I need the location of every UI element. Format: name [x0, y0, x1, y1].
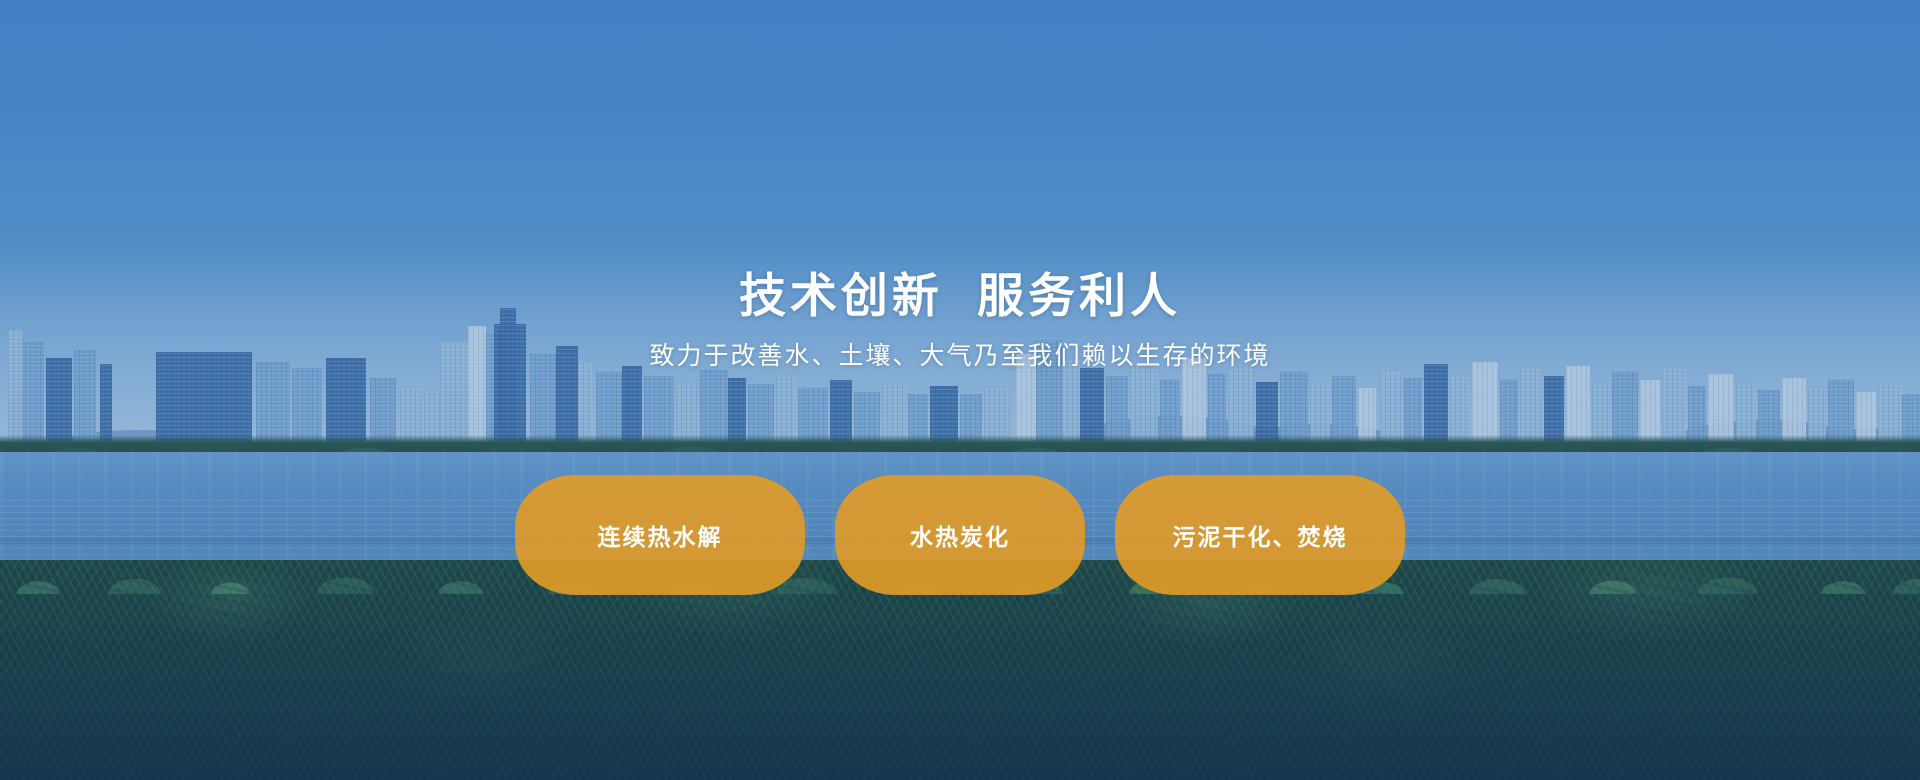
hero-banner: 技术创新 服务利人 致力于改善水、土壤、大气乃至我们赖以生存的环境 连续热水解 …	[0, 0, 1920, 780]
hero-subheadline: 致力于改善水、土壤、大气乃至我们赖以生存的环境	[649, 344, 1270, 369]
hero-cta-row: 连续热水解 水热炭化 污泥干化、焚烧	[0, 475, 1920, 595]
cta-button-continuous-thermal-hydrolysis[interactable]: 连续热水解	[515, 475, 805, 595]
cta-button-sludge-drying-incineration[interactable]: 污泥干化、焚烧	[1115, 475, 1405, 595]
cta-button-hydrothermal-carbonization[interactable]: 水热炭化	[835, 475, 1085, 595]
hero-content: 技术创新 服务利人 致力于改善水、土壤、大气乃至我们赖以生存的环境	[0, 0, 1920, 780]
hero-headline: 技术创新 服务利人	[739, 272, 1181, 319]
